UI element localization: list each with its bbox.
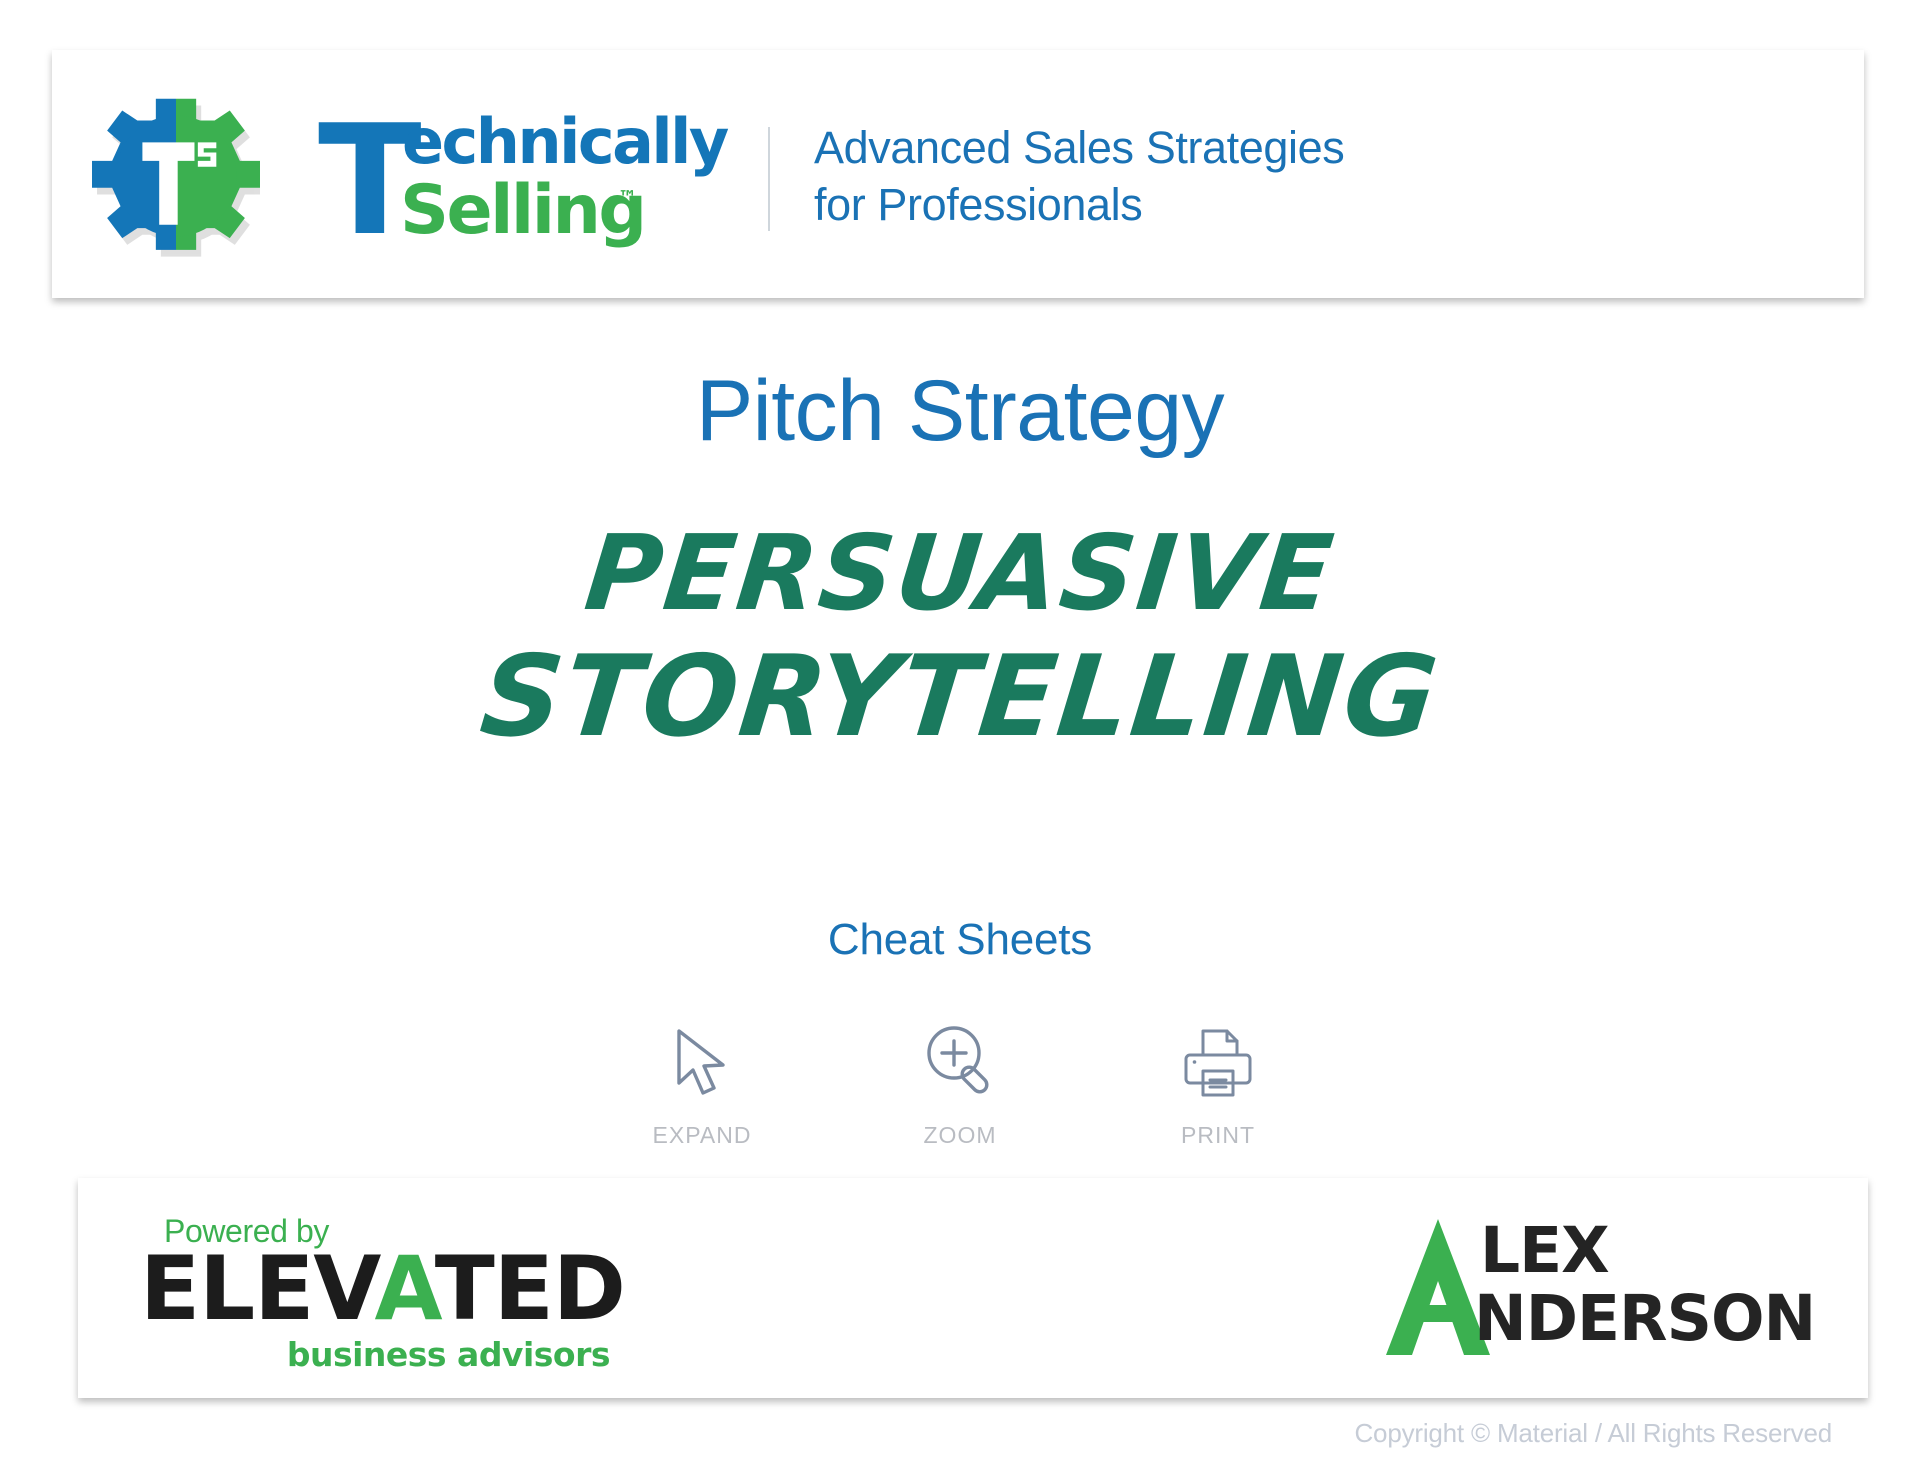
print-label: PRINT xyxy=(1181,1122,1255,1149)
elevated-name-part2: TED xyxy=(435,1237,625,1340)
brand-wordmark: T echnically Selling ™ xyxy=(318,99,708,249)
copyright-text: Copyright © Material / All Rights Reserv… xyxy=(1354,1418,1832,1449)
brush-headline-line-1: PERSUASIVE xyxy=(0,520,1920,626)
alex-last-name: NDERSON xyxy=(1474,1287,1815,1350)
alex-anderson-logo: LEX NDERSON xyxy=(1378,1213,1808,1363)
elevated-subtitle: business advisors xyxy=(287,1335,610,1374)
wordmark-technically: echnically xyxy=(402,111,727,173)
expand-label: EXPAND xyxy=(653,1122,752,1149)
page-title: Pitch Strategy xyxy=(0,368,1920,454)
brush-headline-line-2: STORYTELLING xyxy=(0,640,1920,754)
tagline-line-1: Advanced Sales Strategies xyxy=(814,120,1344,177)
wordmark-selling: Selling xyxy=(400,177,645,245)
footer-panel: Powered by ELEVATED business advisors LE… xyxy=(78,1178,1868,1398)
trademark-symbol: ™ xyxy=(618,187,637,209)
action-bar: EXPAND ZOOM xyxy=(0,1020,1920,1149)
alex-first-name: LEX xyxy=(1480,1219,1609,1282)
elevated-accent-a: A xyxy=(374,1237,434,1340)
brush-headline: PERSUASIVE STORYTELLING xyxy=(0,520,1920,754)
print-button[interactable]: PRINT xyxy=(1143,1020,1293,1149)
gear-logo-icon xyxy=(92,92,260,260)
page-root: T echnically Selling ™ Advanced Sales St… xyxy=(0,0,1920,1484)
page-subtitle: Cheat Sheets xyxy=(0,915,1920,965)
elevated-wordmark: ELEVATED xyxy=(140,1245,625,1333)
brand-tagline: Advanced Sales Strategies for Profession… xyxy=(814,120,1344,233)
header-panel: T echnically Selling ™ Advanced Sales St… xyxy=(52,50,1864,298)
expand-button[interactable]: EXPAND xyxy=(627,1020,777,1149)
printer-icon xyxy=(1178,1020,1258,1106)
header-inner: T echnically Selling ™ Advanced Sales St… xyxy=(52,50,1864,298)
header-divider xyxy=(768,127,770,231)
zoom-button[interactable]: ZOOM xyxy=(885,1020,1035,1149)
cursor-arrow-icon xyxy=(671,1020,733,1106)
elevated-name-part1: ELEV xyxy=(140,1237,374,1340)
magnifier-plus-icon xyxy=(923,1020,997,1106)
elevated-logo: Powered by ELEVATED business advisors xyxy=(140,1213,610,1363)
zoom-label: ZOOM xyxy=(924,1122,997,1149)
tagline-line-2: for Professionals xyxy=(814,177,1344,234)
